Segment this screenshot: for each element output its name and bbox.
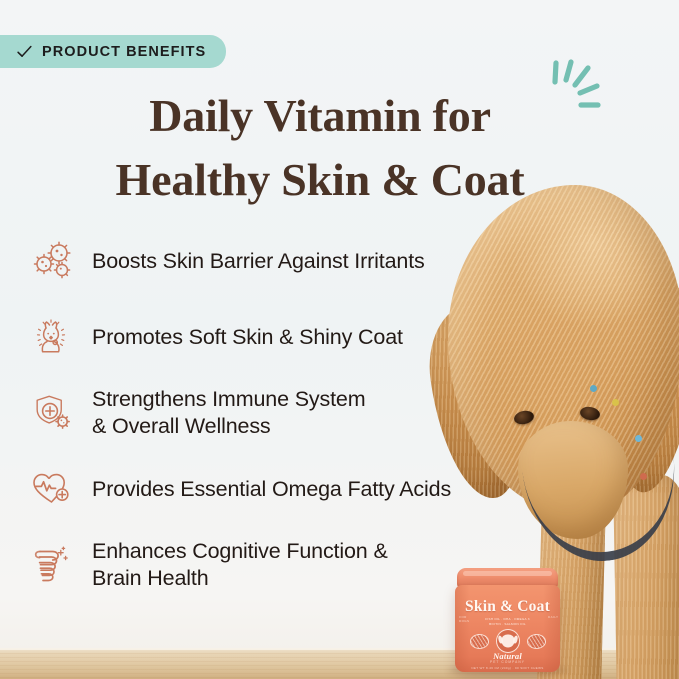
benefit-line-2: Brain Health <box>92 565 388 592</box>
headline-line-1: Daily Vitamin for <box>0 84 640 148</box>
germs-icon <box>30 239 74 283</box>
benefit-text: Promotes Soft Skin & Shiny Coat <box>92 324 403 351</box>
benefit-item: Provides Essential Omega Fatty Acids <box>30 460 530 518</box>
benefit-text: Boosts Skin Barrier Against Irritants <box>92 248 425 275</box>
benefits-list: Boosts Skin Barrier Against Irritants <box>30 232 530 612</box>
headline-line-2: Healthy Skin & Coat <box>0 148 640 212</box>
benefit-line-1: Boosts Skin Barrier Against Irritants <box>92 249 425 273</box>
benefit-item: Enhances Cognitive Function & Brain Heal… <box>30 536 530 594</box>
benefit-line-1: Strengthens Immune System <box>92 387 365 411</box>
intestine-icon <box>30 543 74 587</box>
benefit-line-2: & Overall Wellness <box>92 413 365 440</box>
check-icon <box>16 43 33 60</box>
benefit-line-1: Provides Essential Omega Fatty Acids <box>92 477 451 501</box>
shield-cross-icon <box>30 391 74 435</box>
benefit-line-1: Promotes Soft Skin & Shiny Coat <box>92 325 403 349</box>
page-title: Daily Vitamin for Healthy Skin & Coat <box>0 84 640 212</box>
shiny-dog-icon <box>30 315 74 359</box>
benefit-text: Enhances Cognitive Function & Brain Heal… <box>92 538 388 592</box>
marketing-banner: FOR DOGS DAILY Skin & Coat FISH OIL · DH… <box>0 0 679 679</box>
benefit-item: Promotes Soft Skin & Shiny Coat <box>30 308 530 366</box>
benefit-item: Strengthens Immune System & Overall Well… <box>30 384 530 442</box>
heart-pulse-icon <box>30 467 74 511</box>
benefit-text: Provides Essential Omega Fatty Acids <box>92 476 451 503</box>
benefit-text: Strengthens Immune System & Overall Well… <box>92 386 365 440</box>
product-benefits-badge-label: PRODUCT BENEFITS <box>42 44 206 60</box>
benefit-item: Boosts Skin Barrier Against Irritants <box>30 232 530 290</box>
benefit-line-1: Enhances Cognitive Function & <box>92 539 388 563</box>
content-layer: PRODUCT BENEFITS Daily Vitamin for Healt… <box>0 0 679 679</box>
product-benefits-badge: PRODUCT BENEFITS <box>0 35 226 68</box>
